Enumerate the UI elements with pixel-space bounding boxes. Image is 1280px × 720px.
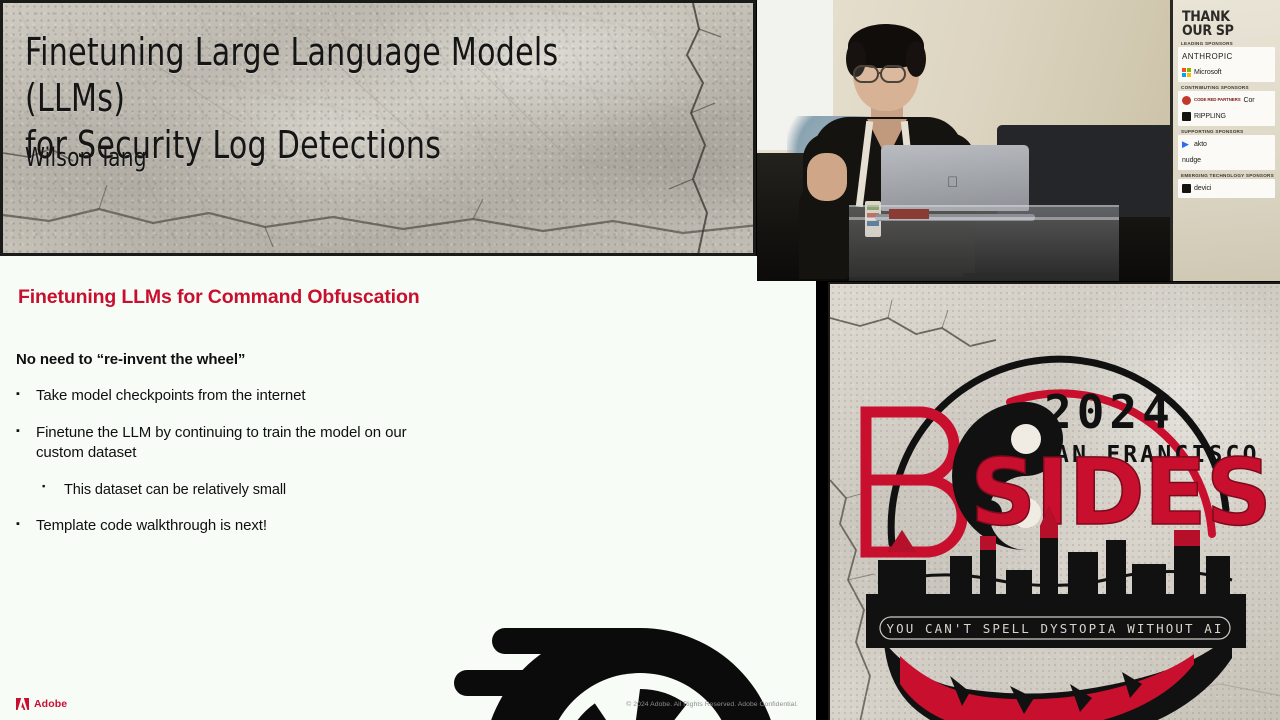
sponsor-name: devici — [1194, 185, 1211, 192]
bullet-marker-icon: ▪ — [16, 516, 36, 537]
sponsor-name: Microsoft — [1194, 69, 1222, 76]
copyright-notice: © 2024 Adobe. All Rights Reserved. Adobe… — [626, 701, 798, 708]
microsoft-logo-icon — [1182, 68, 1191, 77]
bsides-wordmark: SIDES — [970, 439, 1271, 546]
sponsor-row: nudge — [1182, 154, 1271, 167]
speaker-hand-left — [807, 153, 847, 201]
adobe-logo: Adobe — [16, 698, 67, 710]
bsides-tagline: YOU CAN'T SPELL DYSTOPIA WITHOUT AI — [887, 621, 1224, 636]
sponsor-name: Cor — [1244, 97, 1255, 104]
speaker-video-feed[interactable]:  THANK OUR SP LEADING SPONSORS ANTHROPI… — [757, 0, 1280, 281]
sponsor-banner-headline: THANK OUR SP — [1182, 10, 1275, 38]
sponsor-name: CODE RED PARTNERS — [1194, 98, 1241, 103]
rippling-logo-icon — [1182, 112, 1191, 121]
podium-tag — [889, 209, 929, 219]
bullet-marker-icon: ▪ — [42, 480, 64, 500]
speaker-name: Wilson Tang — [25, 143, 147, 173]
speaker-hair-side-right — [906, 41, 926, 77]
bullet-item-sub: ▪ This dataset can be relatively small — [42, 480, 416, 500]
bsides-logo-panel: 2024 SAN FRANCISCO SIDES — [828, 282, 1280, 720]
sponsor-name: RIPPLING — [1194, 113, 1226, 120]
sponsor-card: ▶ akto nudge — [1178, 135, 1275, 170]
sponsor-row: RIPPLING — [1182, 110, 1271, 123]
bullet-marker-icon: ▪ — [16, 423, 36, 464]
slide-lead-line: No need to “re-invent the wheel” — [16, 351, 416, 368]
bullet-marker-icon: ▪ — [16, 386, 36, 407]
adobe-wordmark: Adobe — [34, 698, 67, 710]
sponsor-banner: THANK OUR SP LEADING SPONSORS ANTHROPIC … — [1170, 0, 1280, 281]
bsides-letter-b — [866, 412, 962, 552]
screen-capture: Finetuning Large Language Models (LLMs) … — [0, 0, 1280, 720]
sponsor-name: ANTHROPIC — [1182, 52, 1233, 61]
slide-body: No need to “re-invent the wheel” ▪ Take … — [16, 351, 416, 553]
sponsor-row: Microsoft — [1182, 66, 1271, 79]
sponsor-name: nudge — [1182, 157, 1201, 164]
bsides-tagline-pill: YOU CAN'T SPELL DYSTOPIA WITHOUT AI — [874, 612, 1236, 644]
sponsor-row: devici — [1182, 182, 1271, 195]
sponsor-card: ANTHROPIC Microsoft — [1178, 47, 1275, 82]
slide-heading: Finetuning LLMs for Command Obfuscation — [18, 286, 419, 309]
bullet-text: Take model checkpoints from the internet — [36, 386, 305, 407]
bsides-sf-2024-logo: 2024 SAN FRANCISCO SIDES — [830, 284, 1280, 720]
sponsor-category-label: LEADING SPONSORS — [1181, 41, 1275, 46]
title-banner: Finetuning Large Language Models (LLMs) … — [0, 0, 756, 256]
sponsor-category-label: CONTRIBUTING SPONSORS — [1181, 85, 1275, 90]
sponsor-card: CODE RED PARTNERS Cor RIPPLING — [1178, 91, 1275, 126]
eyeglasses-lens-right — [880, 65, 906, 83]
bullet-item: ▪ Take model checkpoints from the intern… — [16, 386, 416, 407]
apple-logo-icon:  — [947, 175, 960, 190]
bullet-text: Finetune the LLM by continuing to train … — [36, 423, 416, 464]
adobe-mark-icon — [16, 698, 29, 710]
eyeglasses-bridge — [879, 72, 882, 74]
bullet-item: ▪ Template code walkthrough is next! — [16, 516, 416, 537]
sponsor-card: devici — [1178, 179, 1275, 198]
sponsor-row: CODE RED PARTNERS Cor — [1182, 94, 1271, 107]
bsides-year: 2024 — [1044, 385, 1175, 439]
sponsor-category-label: SUPPORTING SPONSORS — [1181, 129, 1275, 134]
sponsor-name: akto — [1194, 141, 1207, 148]
bullet-text: This dataset can be relatively small — [64, 480, 286, 500]
sponsor-row: ▶ akto — [1182, 138, 1271, 151]
code-red-logo-icon — [1182, 96, 1191, 105]
podium — [849, 205, 1119, 281]
akto-logo-icon: ▶ — [1182, 140, 1191, 149]
presentation-slide: Finetuning LLMs for Command Obfuscation … — [0, 256, 816, 720]
partner-logo-icon — [1182, 184, 1191, 193]
sponsor-category-label: EMERGING TECHNOLOGY SPONSORS — [1181, 173, 1275, 178]
eyeglasses-lens-left — [853, 65, 879, 83]
sponsor-row: ANTHROPIC — [1182, 50, 1271, 63]
bullet-text: Template code walkthrough is next! — [36, 516, 267, 537]
bullet-item: ▪ Finetune the LLM by continuing to trai… — [16, 423, 416, 464]
slide-footer: Adobe © 2024 Adobe. All Rights Reserved.… — [0, 674, 816, 720]
